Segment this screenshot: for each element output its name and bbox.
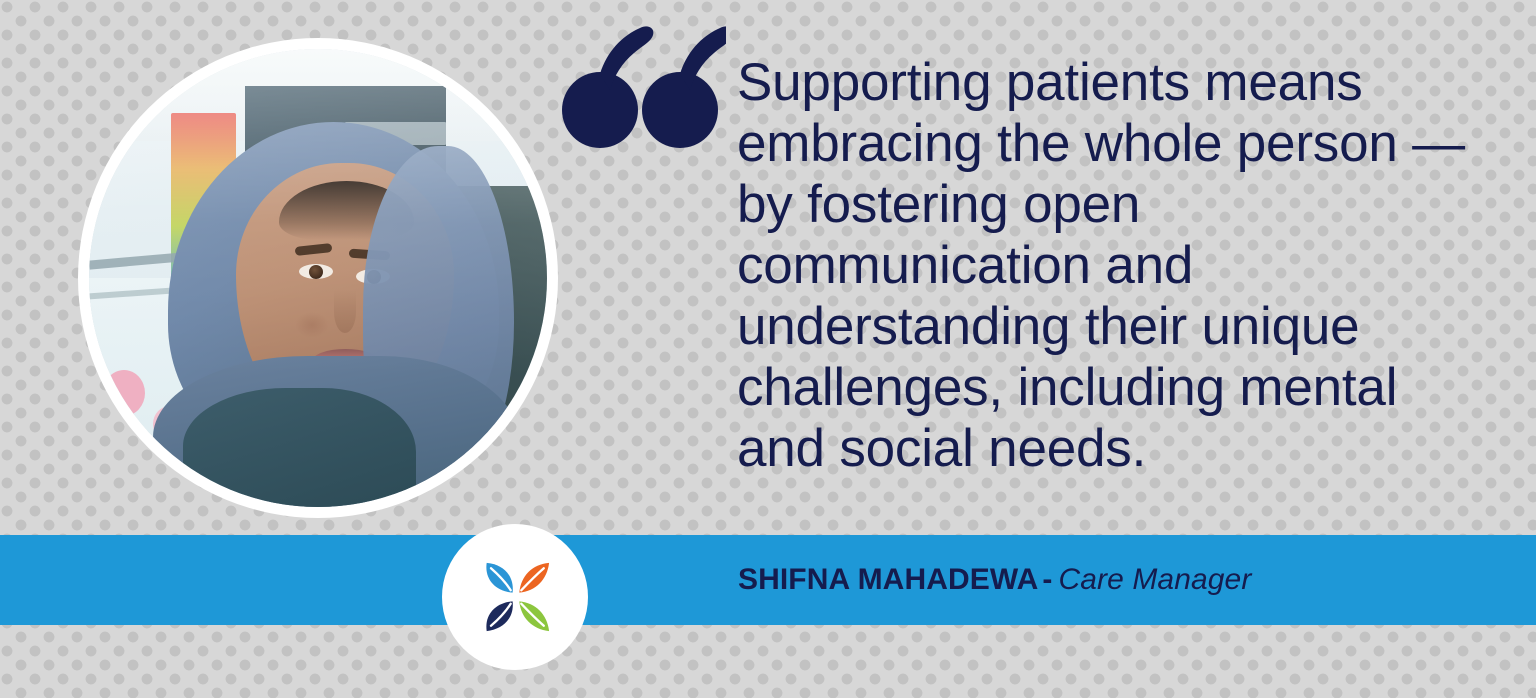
eyebrow-left <box>294 243 332 256</box>
quote-mark-icon <box>556 22 726 152</box>
pinwheel-logo-icon <box>467 549 563 645</box>
leaf-top-left-icon <box>486 563 512 593</box>
photo-subject <box>153 122 529 507</box>
cheek <box>295 312 330 339</box>
portrait-photo <box>89 49 547 507</box>
portrait-ring <box>78 38 558 518</box>
author-role: Care Manager <box>1058 563 1251 597</box>
nose <box>334 290 356 333</box>
quote-card: Supporting patients means embracing the … <box>0 0 1536 698</box>
quote-text: Supporting patients means embracing the … <box>737 52 1497 479</box>
attribution-separator: - <box>1042 563 1052 597</box>
leaf-top-right-icon <box>519 563 549 593</box>
leaf-bottom-right-icon <box>519 601 549 631</box>
logo-badge <box>442 524 588 670</box>
hijab-shadow <box>183 388 416 507</box>
portrait <box>78 38 570 598</box>
attribution-text: SHIFNA MAHADEWA - Care Manager <box>738 535 1251 625</box>
photo-balloon <box>103 370 145 416</box>
leaf-bottom-left-icon <box>486 601 512 631</box>
portrait-clip <box>89 49 547 507</box>
eye-left <box>299 264 333 279</box>
author-name: SHIFNA MAHADEWA <box>738 563 1038 597</box>
iris-left <box>309 265 323 279</box>
